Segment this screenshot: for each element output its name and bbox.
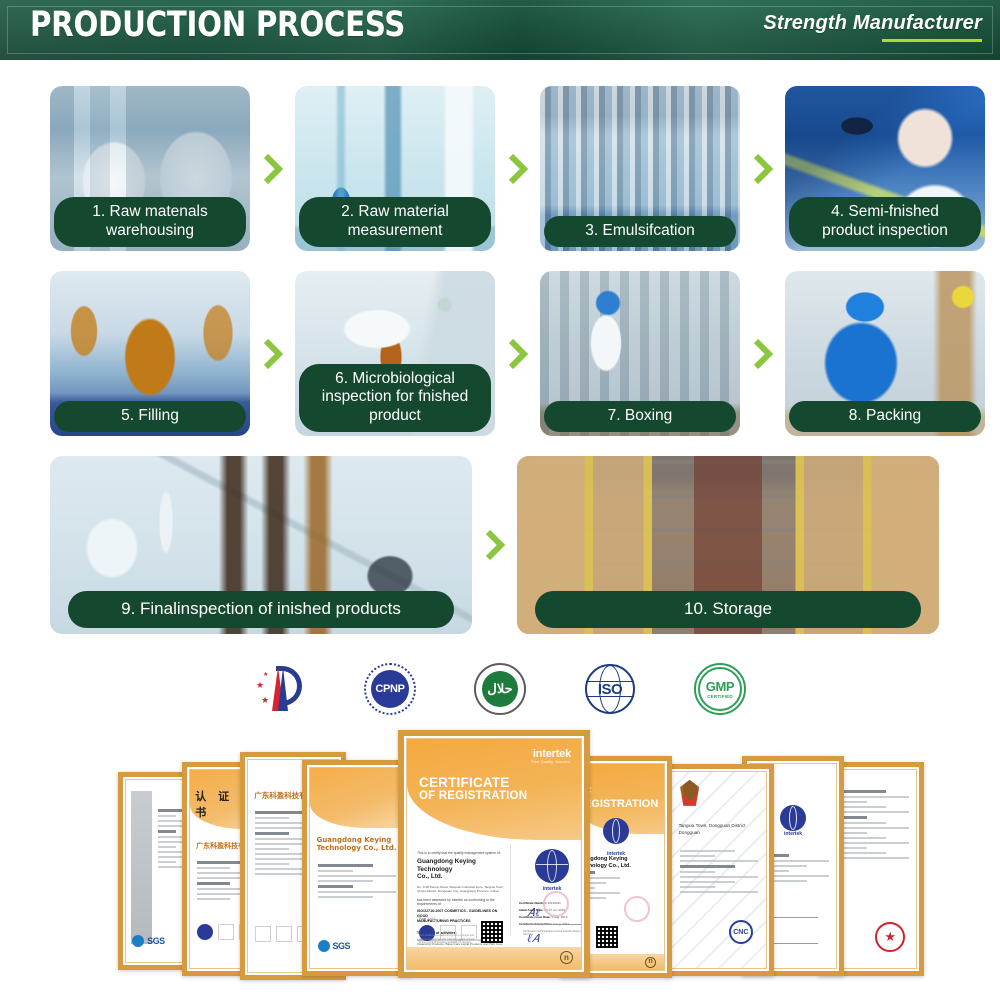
process-step-7-label: 7. Boxing [544, 401, 736, 432]
header-tagline: Strength Manufacturer [763, 12, 982, 42]
cpnp-badge-label: CPNP [364, 663, 416, 715]
process-step-8-label: 8. Packing [789, 401, 981, 432]
sgs-logo: SGS [132, 935, 165, 947]
production-process-grid: 1. Raw matenalswarehousing 2. Raw materi… [0, 60, 1000, 634]
certificate-fineprint: This certificate is valid as long as it … [419, 934, 475, 945]
process-step-4-label: 4. Semi-fnishedproduct inspection [789, 197, 981, 247]
certificate-footer: n [407, 947, 581, 969]
chevron-right-icon [472, 530, 517, 560]
halal-indonesia-badge-icon: حلال [474, 663, 526, 715]
china-p-logo-icon: ★ ★ ★ [254, 663, 306, 715]
process-step-6[interactable]: 6. Microbiologicalinspection for fnished… [295, 271, 495, 436]
sgs-mark-icon [318, 940, 330, 952]
cnc-certificate-company: Tangxia Town, Dongguan District Dongguan [679, 823, 758, 837]
certificate-gallery: SGS 认 证 证 书 广东科盈科技有限公司 广东科盈科技有限公司 [0, 728, 1000, 998]
certificate-orange-band [310, 768, 404, 828]
intertek-brand-tagline: Total Quality. Assured. [531, 760, 571, 764]
tagline-underline [882, 39, 982, 42]
page-title: PRODUCTION PROCESS [30, 5, 405, 45]
certificate-company-address: No. 1/38 Tianxin Road, Wiayuan Industria… [417, 885, 505, 893]
process-step-6-label: 6. Microbiologicalinspection for fnished… [299, 364, 491, 432]
signature-mark-1: 𝐴 ℓ [527, 907, 540, 920]
process-step-10-label: 10. Storage [535, 591, 921, 628]
process-step-3[interactable]: 3. Emulsifcation [540, 86, 740, 251]
process-step-10[interactable]: 10. Storage [517, 456, 939, 634]
certification-badges: ★ ★ ★ CPNP حلال ISO GMP CERTIFIED [0, 654, 1000, 724]
intertek-brand-logo: intertek Total Quality. Assured. [531, 748, 571, 764]
certificate-company-2: Guangdong Keying Technology Co., Ltd. [317, 836, 398, 852]
certificate-divider [510, 845, 511, 935]
process-step-5[interactable]: 5. Filling [50, 271, 250, 436]
intertek-globe-label: intertek [607, 851, 625, 857]
sgs-logo-label: SGS [147, 936, 165, 946]
certificate-intro: This is to certify that the quality mana… [417, 851, 505, 855]
gmp-badge-sublabel: CERTIFIED [707, 694, 733, 699]
chevron-right-icon [495, 154, 540, 184]
accreditation-n-icon: n [560, 951, 573, 964]
halal-badge-label: حلال [474, 663, 526, 715]
tagline-text: Strength Manufacturer [763, 12, 982, 35]
intertek-globe-icon [535, 849, 569, 883]
featured-intertek-certificate[interactable]: intertek Total Quality. Assured. CERTIFI… [398, 730, 590, 978]
process-step-7[interactable]: 7. Boxing [540, 271, 740, 436]
intertek-globe-icon [780, 805, 806, 831]
process-step-3-label: 3. Emulsifcation [544, 216, 736, 247]
process-step-4[interactable]: 4. Semi-fnishedproduct inspection [785, 86, 985, 251]
certificate-stamp [543, 891, 569, 917]
chevron-right-icon [740, 339, 785, 369]
page-header: PRODUCTION PROCESS Strength Manufacturer [0, 0, 1000, 60]
process-step-8[interactable]: 8. Packing [785, 271, 985, 436]
certificate-page-number: Page 1 of 1 [419, 917, 435, 921]
certificate-title-line1: CERTIFICATE [419, 775, 527, 790]
certificate-gray-panel [131, 791, 152, 944]
certificate-title-line2: OF REGISTRATION [419, 790, 527, 803]
gmp-badge-label: GMP [706, 679, 734, 694]
iso-badge-label: ISO [584, 663, 636, 715]
process-step-9[interactable]: 9. Finalinspection of inished products [50, 456, 472, 634]
intertek-globe-icon [603, 818, 629, 844]
process-row-1: 1. Raw matenalswarehousing 2. Raw materi… [0, 86, 1000, 251]
process-step-1-label: 1. Raw matenalswarehousing [54, 197, 246, 247]
qr-code-icon [596, 926, 618, 948]
process-step-2-label: 2. Raw materialmeasurement [299, 197, 491, 247]
chevron-right-icon [250, 154, 295, 184]
signature-mark-2: ℓ𝐴 [527, 933, 539, 946]
sgs-logo-label-2: SGS [333, 941, 351, 951]
process-step-9-label: 9. Finalinspection of inished products [68, 591, 454, 628]
certificate-assessed-line: has been assessed by Intertek as conform… [417, 898, 505, 906]
sgs-certificate-2[interactable]: Guangdong Keying Technology Co., Ltd. SG… [302, 760, 412, 976]
intertek-brand-name: intertek [531, 748, 571, 760]
cpnp-badge-icon: CPNP [364, 663, 416, 715]
chevron-right-icon [740, 154, 785, 184]
process-step-2[interactable]: 2. Raw materialmeasurement [295, 86, 495, 251]
process-step-5-label: 5. Filling [54, 401, 246, 432]
process-step-1[interactable]: 1. Raw matenalswarehousing [50, 86, 250, 251]
sgs-mark-icon [132, 935, 144, 947]
red-official-seal-icon: ★ [875, 922, 905, 952]
cnc-certificate[interactable]: Tangxia Town, Dongguan District Dongguan… [664, 764, 774, 976]
chevron-right-icon [495, 339, 540, 369]
certificate-title: CERTIFICATE OF REGISTRATION [419, 775, 527, 803]
gmp-badge-icon: GMP CERTIFIED [694, 663, 746, 715]
iso-badge-icon: ISO [584, 663, 636, 715]
certificate-stamp [624, 896, 650, 922]
sgs-logo-2: SGS [318, 940, 351, 952]
certificate-company-name: Guangdong Keying TechnologyCo., Ltd. [417, 858, 505, 881]
process-row-2: 5. Filling 6. Microbiologicalinspection … [0, 271, 1000, 436]
process-row-3: 9. Finalinspection of inished products 1… [0, 456, 1000, 634]
qr-code-icon [481, 921, 503, 943]
chevron-right-icon [250, 339, 295, 369]
intertek-globe-label-3: intertek [784, 831, 802, 837]
